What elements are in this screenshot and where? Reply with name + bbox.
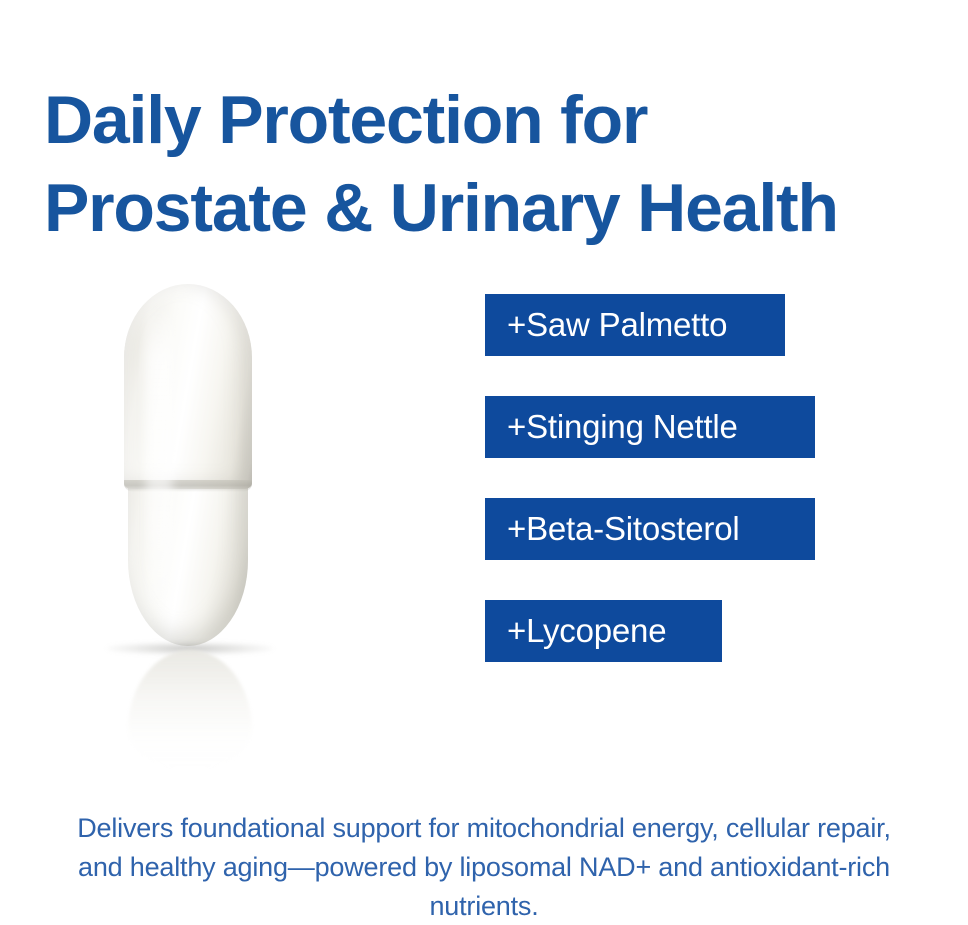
capsule-highlight [146, 302, 172, 622]
capsule-reflection [128, 650, 252, 770]
ingredient-badge-lycopene[interactable]: +Lycopene [485, 600, 722, 662]
ingredient-badge-beta-sitosterol[interactable]: +Beta-Sitosterol [485, 498, 815, 560]
product-promo-card: Daily Protection for Prostate & Urinary … [0, 0, 968, 925]
capsule-cap [124, 284, 252, 489]
ingredient-badge-saw-palmetto[interactable]: +Saw Palmetto [485, 294, 785, 356]
ingredient-badge-stinging-nettle[interactable]: +Stinging Nettle [485, 396, 815, 458]
product-description: Delivers foundational support for mitoch… [64, 809, 904, 925]
capsule-seam [124, 480, 252, 492]
capsule-product-image [96, 270, 311, 710]
page-title: Daily Protection for Prostate & Urinary … [44, 76, 934, 252]
ingredient-badge-list: +Saw Palmetto +Stinging Nettle +Beta-Sit… [485, 294, 905, 662]
capsule-icon [124, 284, 255, 646]
